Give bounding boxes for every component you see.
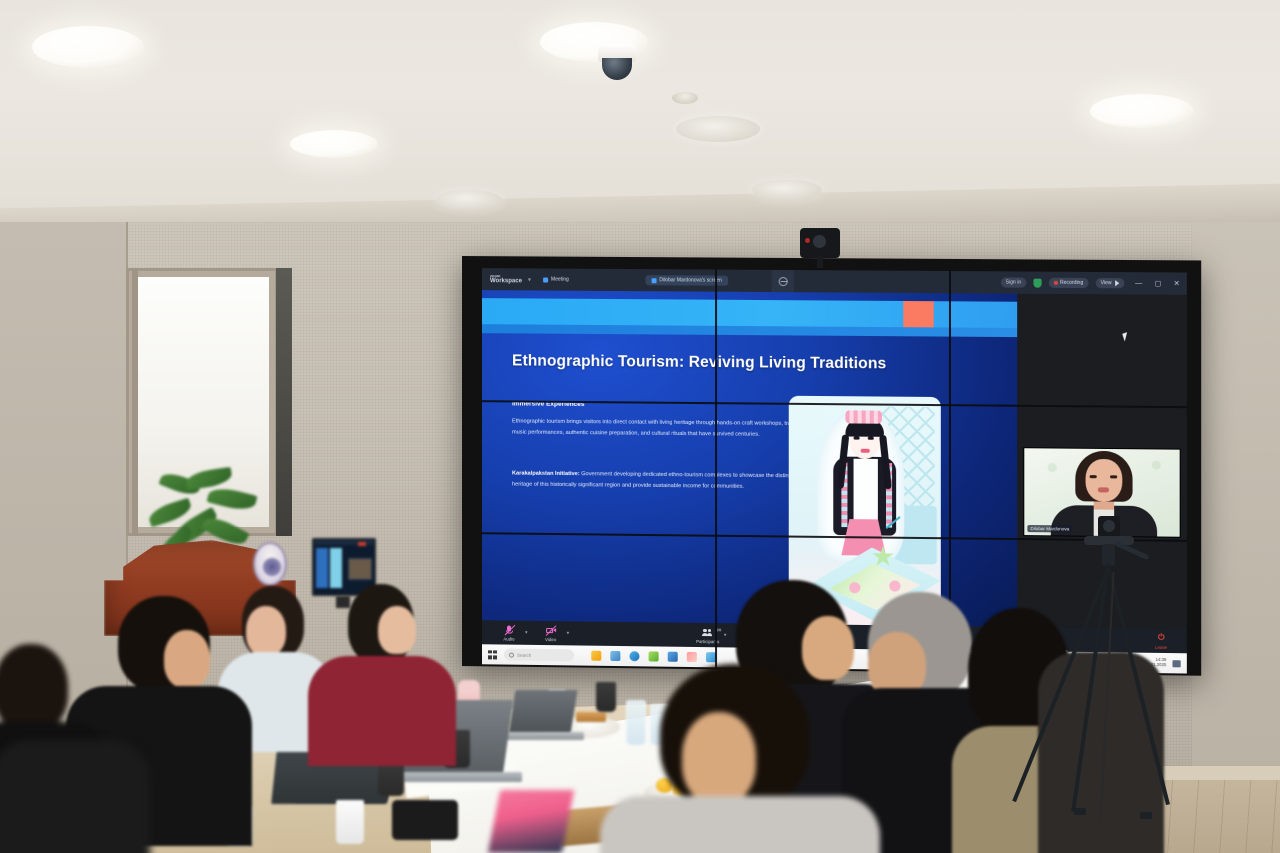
search-placeholder: Search	[517, 652, 531, 657]
smoke-detector-icon	[672, 92, 698, 104]
zoom-titlebar: zoom Workspace ▾ Meeting Dilobar Mardono…	[482, 268, 1187, 295]
lips	[1098, 487, 1109, 492]
taskbar-app-icon[interactable]	[687, 652, 697, 662]
slide-accent-square	[903, 301, 933, 327]
taskbar-app-icon[interactable]	[668, 652, 678, 662]
laptop-charger	[392, 800, 458, 840]
monitor-stand	[336, 596, 350, 608]
participants-button[interactable]: 26 Participants	[695, 626, 721, 643]
meeting-icon	[543, 277, 548, 282]
slide-paragraph-2: Karakalpakstan Initiative: Government de…	[512, 468, 814, 493]
taskbar-app-icon[interactable]	[591, 651, 601, 661]
audio-label: Audio	[503, 636, 514, 641]
tab-shared-screen-label: Dilobar Mardonova's screen	[659, 277, 722, 283]
face	[682, 712, 756, 804]
search-icon	[509, 652, 514, 657]
torso	[308, 656, 456, 766]
tripod-foot	[1074, 808, 1086, 815]
audio-options-caret-icon[interactable]: ▾	[525, 630, 528, 636]
face	[246, 606, 286, 656]
pastry	[576, 712, 606, 722]
maximize-button[interactable]: ▢	[1155, 279, 1162, 287]
ceiling-light	[290, 130, 378, 158]
lectern-emblem	[253, 542, 287, 586]
start-button-icon[interactable]	[488, 650, 497, 659]
lips	[861, 449, 870, 453]
workspace-caret-icon[interactable]: ▾	[528, 276, 531, 283]
face	[164, 630, 210, 688]
video-label: Video	[545, 637, 556, 642]
sign-in-button[interactable]: Sign in	[1001, 277, 1027, 287]
wall-mounted-camera-icon	[800, 228, 840, 258]
conference-room-photo: zoom Workspace ▾ Meeting Dilobar Mardono…	[0, 0, 1280, 853]
tripod-camera-icon	[1098, 516, 1120, 538]
headdress	[845, 410, 881, 423]
eye	[868, 437, 874, 440]
slide-top-band	[482, 298, 1017, 328]
taskbar-search-input[interactable]: Search	[504, 649, 574, 662]
head	[0, 644, 68, 732]
camera-muted-icon	[545, 625, 556, 636]
mouse-cursor-icon	[1122, 332, 1129, 341]
microphone-muted-icon	[504, 624, 515, 635]
face	[378, 606, 416, 654]
coffee-cup	[596, 682, 616, 712]
face	[802, 616, 854, 680]
tab-shared-screen[interactable]: Dilobar Mardonova's screen	[645, 275, 728, 286]
taskbar-app-icon[interactable]	[706, 652, 716, 662]
dome-security-camera-icon	[596, 44, 638, 82]
video-button[interactable]: Video	[538, 624, 564, 641]
tripod-leg	[1071, 564, 1110, 812]
taskbar-app-icon[interactable]	[649, 651, 659, 661]
minimize-button[interactable]: —	[1135, 280, 1142, 287]
taskbar-app-icon[interactable]	[610, 651, 620, 661]
ceiling-light	[32, 26, 144, 68]
shield-icon[interactable]	[1033, 278, 1041, 287]
laptop	[488, 790, 574, 853]
paper-cup	[336, 800, 364, 844]
water-glass	[626, 700, 646, 746]
share-controls-handle[interactable]	[772, 270, 794, 292]
ceiling-light	[436, 190, 502, 210]
view-button[interactable]: View	[1095, 278, 1123, 288]
slide-title: Ethnographic Tourism: Reviving Living Tr…	[512, 352, 987, 374]
ceiling-light	[752, 180, 822, 200]
right-wall-panel	[1192, 222, 1280, 782]
recording-label: Recording	[1060, 280, 1083, 286]
tab-meeting-label: Meeting	[551, 277, 569, 283]
laptop-base	[396, 772, 522, 782]
tripod-foot	[1140, 812, 1152, 819]
participants-icon: 26	[702, 626, 713, 637]
eye	[854, 437, 860, 440]
camera-tripod	[1062, 516, 1182, 816]
participants-label: Participants	[696, 638, 719, 643]
taskbar-app-icon[interactable]	[629, 651, 639, 661]
slide-subhead: Immersive Experiences	[512, 400, 584, 408]
window-edge	[276, 268, 292, 536]
face	[1086, 459, 1123, 502]
screen-share-icon	[651, 278, 656, 283]
ceiling-light	[676, 116, 760, 142]
eye	[1090, 475, 1097, 478]
torso	[0, 740, 150, 853]
slide-paragraph-1: Ethnographic tourism brings visitors int…	[512, 416, 814, 441]
participants-count: 26	[717, 627, 721, 632]
laptop-base	[500, 732, 584, 740]
eye	[1110, 475, 1117, 478]
torso	[600, 796, 880, 853]
zoom-logo: zoom Workspace	[490, 274, 522, 284]
tripod-leg	[1106, 564, 1170, 806]
slide-paragraph-2-lead: Karakalpakstan Initiative:	[512, 470, 580, 477]
laptop	[509, 690, 578, 734]
window-mullion	[132, 268, 138, 536]
tab-meeting[interactable]: Meeting	[537, 274, 575, 284]
view-label: View	[1101, 280, 1112, 286]
participants-caret-icon[interactable]: ▾	[724, 632, 727, 638]
video-options-caret-icon[interactable]: ▾	[567, 630, 570, 636]
audio-button[interactable]: Audio	[496, 624, 522, 641]
ceiling-light	[1090, 94, 1194, 128]
recording-indicator[interactable]: Recording	[1049, 278, 1089, 288]
close-button[interactable]: ✕	[1174, 280, 1180, 288]
